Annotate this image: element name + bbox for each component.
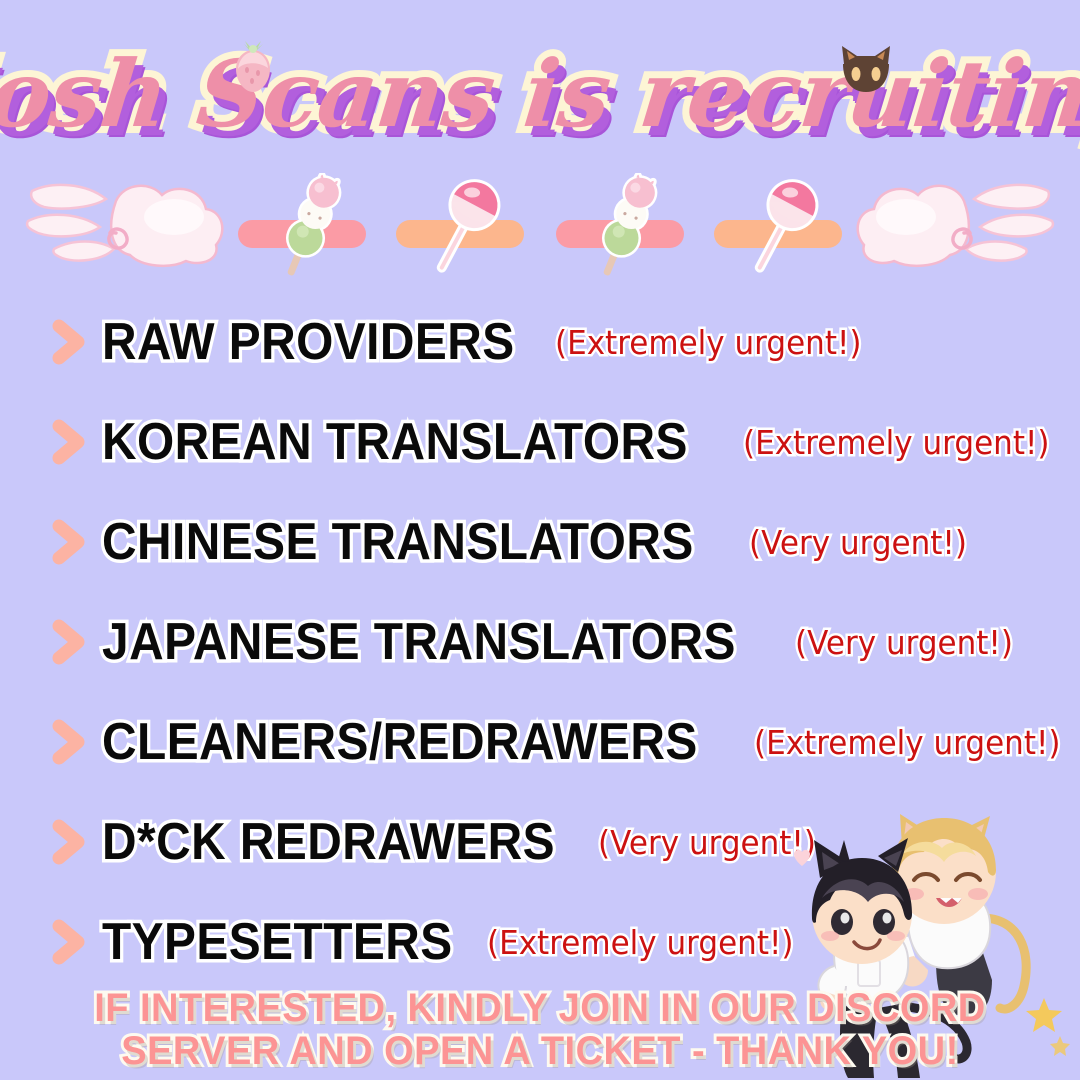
list-item[interactable]: D*CK REDRAWERS (Very urgent!) [0,792,1080,892]
chevron-right-icon [52,519,86,565]
list-item[interactable]: RAW PROVIDERS (Extremely urgent!) [0,292,1080,392]
role-urgency: (Extremely urgent!) [743,426,1050,459]
chevron-right-icon [52,419,86,465]
lollipop-icon [418,171,514,279]
bunny-dango-icon [262,173,358,281]
winged-cloud-left-icon [24,171,234,271]
role-list: RAW PROVIDERS (Extremely urgent!) KOREAN… [0,292,1080,992]
page-title: Mosh Scans is recruiting! [0,48,1080,140]
role-title: KOREAN TRANSLATORS [102,416,688,468]
list-item[interactable]: TYPESETTERS (Extremely urgent!) [0,892,1080,992]
role-urgency: (Extremely urgent!) [754,726,1061,759]
role-urgency: (Very urgent!) [598,826,816,859]
role-urgency: (Very urgent!) [749,526,967,559]
role-urgency: (Very urgent!) [795,626,1013,659]
role-title: D*CK REDRAWERS [102,816,555,868]
list-item[interactable]: JAPANESE TRANSLATORS (Very urgent!) [0,592,1080,692]
recruitment-poster: Mosh Scans is recruiting! [0,0,1080,1080]
lollipop-icon [736,171,832,279]
list-item[interactable]: CLEANERS/REDRAWERS (Extremely urgent!) [0,692,1080,792]
list-item[interactable]: CHINESE TRANSLATORS (Very urgent!) [0,492,1080,592]
chevron-right-icon [52,819,86,865]
poster-header: Mosh Scans is recruiting! [0,34,1080,154]
decorative-divider [0,165,1080,277]
role-title: CLEANERS/REDRAWERS [102,716,698,768]
role-title: RAW PROVIDERS [102,316,515,368]
footer-line-2: SERVER AND OPEN A TICKET - THANK YOU! [27,1030,1053,1072]
role-title: JAPANESE TRANSLATORS [102,616,736,668]
list-item[interactable]: KOREAN TRANSLATORS (Extremely urgent!) [0,392,1080,492]
chevron-right-icon [52,719,86,765]
footer-cta: IF INTERESTED, KINDLY JOIN IN OUR DISCOR… [0,987,1080,1072]
winged-cloud-right-icon [846,171,1056,271]
role-title: TYPESETTERS [102,916,453,968]
chevron-right-icon [52,619,86,665]
bunny-dango-icon [578,173,674,281]
chevron-right-icon [52,319,86,365]
chevron-right-icon [52,919,86,965]
role-urgency: (Extremely urgent!) [555,326,862,359]
footer-line-1: IF INTERESTED, KINDLY JOIN IN OUR DISCOR… [27,987,1053,1029]
role-urgency: (Extremely urgent!) [487,926,794,959]
role-title: CHINESE TRANSLATORS [102,516,694,568]
